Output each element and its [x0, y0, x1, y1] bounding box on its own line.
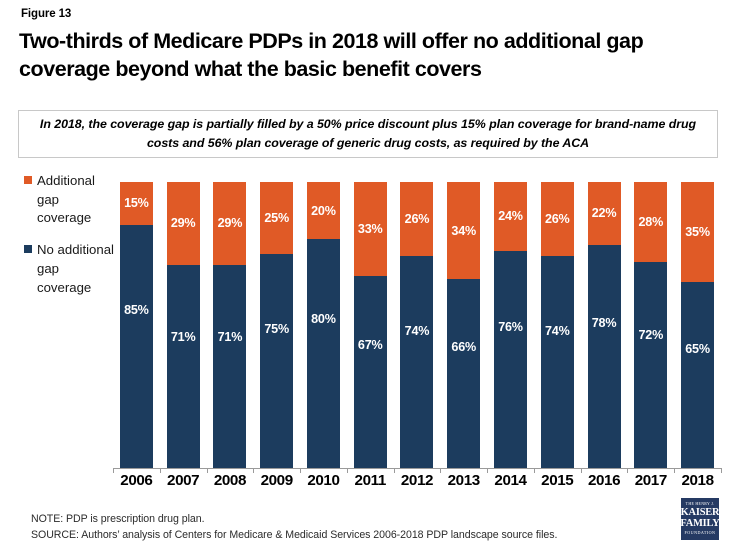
legend-item-label: No additional gap coverage — [37, 241, 116, 297]
bar-segment-no-additional-gap-coverage[interactable]: 80% — [307, 239, 340, 468]
bar-column[interactable]: 34%66% — [440, 182, 487, 468]
bar-segment-additional-gap-coverage[interactable]: 24% — [494, 182, 527, 251]
bar-value-label: 35% — [685, 225, 710, 239]
bar-value-label: 76% — [498, 320, 523, 334]
bar-segment-additional-gap-coverage[interactable]: 29% — [213, 182, 246, 265]
legend-item-label: Additional gap coverage — [37, 172, 116, 228]
bar-value-label: 25% — [264, 211, 289, 225]
bar-value-label: 74% — [405, 324, 430, 338]
chart-page: Figure 13 Two-thirds of Medicare PDPs in… — [0, 0, 735, 551]
bar-segment-no-additional-gap-coverage[interactable]: 75% — [260, 254, 293, 469]
x-axis-tick-label: 2007 — [160, 472, 207, 489]
bar-segment-additional-gap-coverage[interactable]: 33% — [354, 182, 387, 276]
bar-value-label: 67% — [358, 338, 383, 352]
bar-segment-no-additional-gap-coverage[interactable]: 71% — [213, 265, 246, 468]
bar-segment-no-additional-gap-coverage[interactable]: 85% — [120, 225, 153, 468]
x-axis-tick-label: 2013 — [440, 472, 487, 489]
bar-segment-no-additional-gap-coverage[interactable]: 78% — [588, 245, 621, 468]
legend-item[interactable]: Additional gap coverage — [24, 172, 116, 228]
bar-segment-no-additional-gap-coverage[interactable]: 66% — [447, 279, 480, 468]
x-axis-tick-label: 2006 — [113, 472, 160, 489]
x-axis-tick — [394, 468, 395, 473]
bar-value-label: 78% — [592, 316, 617, 330]
bar-segment-additional-gap-coverage[interactable]: 35% — [681, 182, 714, 282]
bar-value-label: 74% — [545, 324, 570, 338]
bar-value-label: 33% — [358, 222, 383, 236]
bar-segment-no-additional-gap-coverage[interactable]: 67% — [354, 276, 387, 468]
footer-source: SOURCE: Authors’ analysis of Centers for… — [31, 527, 671, 543]
bar-column[interactable]: 29%71% — [160, 182, 207, 468]
bar-value-label: 65% — [685, 342, 710, 356]
bar-group: 15%85%29%71%29%71%25%75%20%80%33%67%26%7… — [113, 182, 721, 468]
x-axis-tick-label: 2016 — [581, 472, 628, 489]
logo-line-3: FAMILY — [680, 519, 719, 530]
figure-label: Figure 13 — [21, 8, 71, 20]
footer-note: NOTE: PDP is prescription drug plan. — [31, 511, 671, 527]
bar-value-label: 80% — [311, 312, 336, 326]
bar-value-label: 26% — [405, 212, 430, 226]
x-axis-tick — [300, 468, 301, 473]
plot-area: 15%85%29%71%29%71%25%75%20%80%33%67%26%7… — [113, 182, 721, 468]
bar-segment-additional-gap-coverage[interactable]: 28% — [634, 182, 667, 262]
stacked-bar[interactable]: 33%67% — [354, 182, 387, 468]
stacked-bar[interactable]: 29%71% — [167, 182, 200, 468]
x-axis-tick — [113, 468, 114, 473]
page-title: Two-thirds of Medicare PDPs in 2018 will… — [19, 28, 719, 83]
x-axis-tick-label: 2009 — [253, 472, 300, 489]
x-axis-tick — [721, 468, 722, 473]
x-axis-tick-label: 2012 — [394, 472, 441, 489]
bar-segment-no-additional-gap-coverage[interactable]: 74% — [400, 256, 433, 468]
x-axis-labels: 2006200720082009201020112012201320142015… — [113, 472, 721, 489]
bar-value-label: 26% — [545, 212, 570, 226]
bar-value-label: 20% — [311, 204, 336, 218]
bar-segment-additional-gap-coverage[interactable]: 22% — [588, 182, 621, 245]
x-axis-tick-label: 2018 — [674, 472, 721, 489]
bar-segment-no-additional-gap-coverage[interactable]: 65% — [681, 282, 714, 468]
bar-column[interactable]: 24%76% — [487, 182, 534, 468]
bar-value-label: 15% — [124, 196, 149, 210]
stacked-bar[interactable]: 20%80% — [307, 182, 340, 468]
kff-logo: THE HENRY J. KAISER FAMILY FOUNDATION — [681, 498, 719, 540]
bar-segment-no-additional-gap-coverage[interactable]: 74% — [541, 256, 574, 468]
bar-segment-additional-gap-coverage[interactable]: 29% — [167, 182, 200, 265]
bar-segment-no-additional-gap-coverage[interactable]: 76% — [494, 251, 527, 468]
x-axis-tick-label: 2017 — [627, 472, 674, 489]
bar-column[interactable]: 20%80% — [300, 182, 347, 468]
bar-segment-additional-gap-coverage[interactable]: 26% — [400, 182, 433, 256]
bar-value-label: 72% — [638, 328, 663, 342]
bar-value-label: 29% — [171, 216, 196, 230]
footer: NOTE: PDP is prescription drug plan. SOU… — [31, 511, 671, 543]
subtitle-callout-box: In 2018, the coverage gap is partially f… — [18, 110, 718, 158]
bar-value-label: 85% — [124, 303, 149, 317]
bar-segment-additional-gap-coverage[interactable]: 15% — [120, 182, 153, 225]
x-axis-tick — [253, 468, 254, 473]
stacked-bar[interactable]: 34%66% — [447, 182, 480, 468]
stacked-bar[interactable]: 25%75% — [260, 182, 293, 468]
stacked-bar[interactable]: 26%74% — [541, 182, 574, 468]
x-axis-tick — [440, 468, 441, 473]
x-axis-tick — [674, 468, 675, 473]
stacked-bar[interactable]: 28%72% — [634, 182, 667, 468]
x-axis-line — [113, 468, 721, 469]
x-axis-tick — [627, 468, 628, 473]
bar-column[interactable]: 33%67% — [347, 182, 394, 468]
x-axis-tick — [487, 468, 488, 473]
bar-value-label: 22% — [592, 206, 617, 220]
bar-value-label: 71% — [171, 330, 196, 344]
x-axis-tick — [160, 468, 161, 473]
legend-swatch-icon — [24, 245, 32, 253]
bar-segment-additional-gap-coverage[interactable]: 26% — [541, 182, 574, 256]
x-axis-tick-label: 2015 — [534, 472, 581, 489]
stacked-bar[interactable]: 22%78% — [588, 182, 621, 468]
x-axis-tick — [534, 468, 535, 473]
bar-segment-no-additional-gap-coverage[interactable]: 72% — [634, 262, 667, 468]
bar-segment-additional-gap-coverage[interactable]: 25% — [260, 182, 293, 254]
bar-column[interactable]: 35%65% — [674, 182, 721, 468]
bar-column[interactable]: 26%74% — [534, 182, 581, 468]
bar-segment-additional-gap-coverage[interactable]: 20% — [307, 182, 340, 239]
bar-column[interactable]: 29%71% — [207, 182, 254, 468]
bar-value-label: 34% — [451, 224, 476, 238]
x-axis-tick — [347, 468, 348, 473]
subtitle-text: In 2018, the coverage gap is partially f… — [31, 115, 705, 153]
bar-value-label: 71% — [218, 330, 243, 344]
bar-value-label: 24% — [498, 209, 523, 223]
bar-segment-additional-gap-coverage[interactable]: 34% — [447, 182, 480, 279]
bar-column[interactable]: 28%72% — [627, 182, 674, 468]
bar-segment-no-additional-gap-coverage[interactable]: 71% — [167, 265, 200, 468]
legend-swatch-icon — [24, 176, 32, 184]
x-axis-tick — [207, 468, 208, 473]
bar-column[interactable]: 15%85% — [113, 182, 160, 468]
x-axis-tick — [581, 468, 582, 473]
bar-value-label: 29% — [218, 216, 243, 230]
legend-item[interactable]: No additional gap coverage — [24, 241, 116, 297]
bar-value-label: 75% — [264, 322, 289, 336]
bar-value-label: 28% — [638, 215, 663, 229]
bar-value-label: 66% — [451, 340, 476, 354]
x-axis-tick-label: 2014 — [487, 472, 534, 489]
stacked-bar[interactable]: 35%65% — [681, 182, 714, 468]
bar-column[interactable]: 22%78% — [581, 182, 628, 468]
stacked-bar[interactable]: 29%71% — [213, 182, 246, 468]
bar-column[interactable]: 26%74% — [394, 182, 441, 468]
bar-column[interactable]: 25%75% — [253, 182, 300, 468]
x-axis-tick-label: 2008 — [207, 472, 254, 489]
x-axis-tick-label: 2010 — [300, 472, 347, 489]
stacked-bar[interactable]: 24%76% — [494, 182, 527, 468]
stacked-bar[interactable]: 26%74% — [400, 182, 433, 468]
chart-legend: Additional gap coverageNo additional gap… — [24, 172, 116, 310]
stacked-bar[interactable]: 15%85% — [120, 182, 153, 468]
logo-line-4: FOUNDATION — [685, 531, 716, 535]
x-axis-tick-label: 2011 — [347, 472, 394, 489]
